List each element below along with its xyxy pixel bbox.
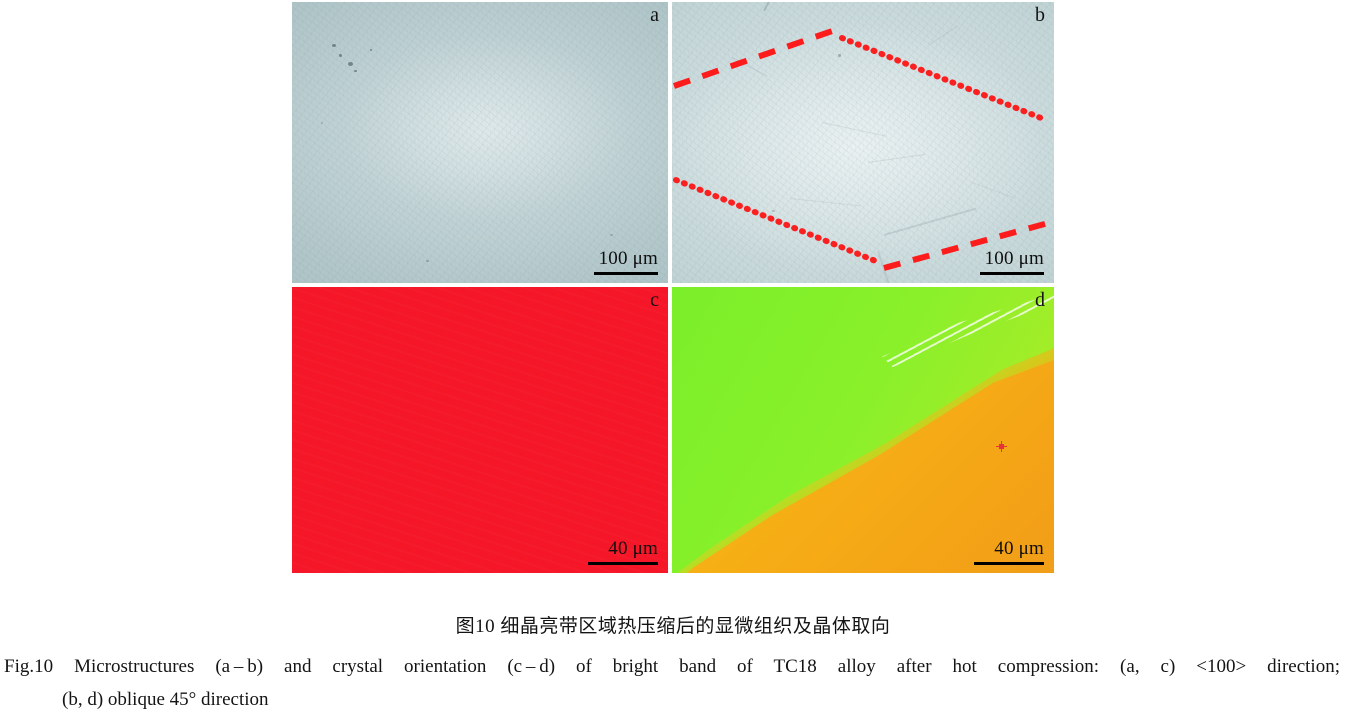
- panel-d-point-marker: [999, 444, 1004, 449]
- figure-caption-block: 图10 细晶亮带区域热压缩后的显微组织及晶体取向 Fig.10 Microstr…: [0, 613, 1346, 715]
- panel-a-scale-bar: 100 μm: [594, 249, 658, 275]
- panel-b-scale-text: 100 μm: [980, 249, 1044, 269]
- panel-a-scale-text: 100 μm: [594, 249, 658, 269]
- panel-d: d 40 μm: [672, 287, 1054, 573]
- panel-b: b 100 μm: [672, 2, 1054, 283]
- panel-c-label: c: [650, 289, 659, 311]
- panel-b-micrograph: [672, 2, 1054, 283]
- panel-a: a 100 μm: [292, 2, 668, 283]
- panel-d-scale-bar: 40 μm: [974, 539, 1044, 565]
- caption-english: Fig.10 Microstructures (a – b) and cryst…: [0, 651, 1346, 716]
- panel-a-scale-rule: [594, 272, 658, 275]
- panel-d-orientation-map: [672, 287, 1054, 573]
- panel-a-micrograph: [292, 2, 668, 283]
- panel-d-scale-rule: [974, 562, 1044, 565]
- panel-d-label: d: [1035, 289, 1045, 311]
- panel-b-label: b: [1035, 4, 1045, 26]
- caption-english-line-2: (b, d) oblique 45° direction: [4, 684, 1340, 715]
- panel-c-orientation-map: [292, 287, 668, 573]
- panel-c-scale-rule: [588, 562, 658, 565]
- caption-english-line-1: Fig.10 Microstructures (a – b) and cryst…: [4, 651, 1340, 682]
- panel-b-scale-bar: 100 μm: [980, 249, 1044, 275]
- panel-c: c 40 μm: [292, 287, 668, 573]
- caption-chinese: 图10 细晶亮带区域热压缩后的显微组织及晶体取向: [0, 613, 1346, 642]
- panel-d-scale-text: 40 μm: [974, 539, 1044, 559]
- panel-a-label: a: [650, 4, 659, 26]
- panel-c-scale-text: 40 μm: [588, 539, 658, 559]
- figure-panel-grid: a 100 μm b 100 μm: [292, 2, 1054, 573]
- panel-c-scale-bar: 40 μm: [588, 539, 658, 565]
- panel-b-scale-rule: [980, 272, 1044, 275]
